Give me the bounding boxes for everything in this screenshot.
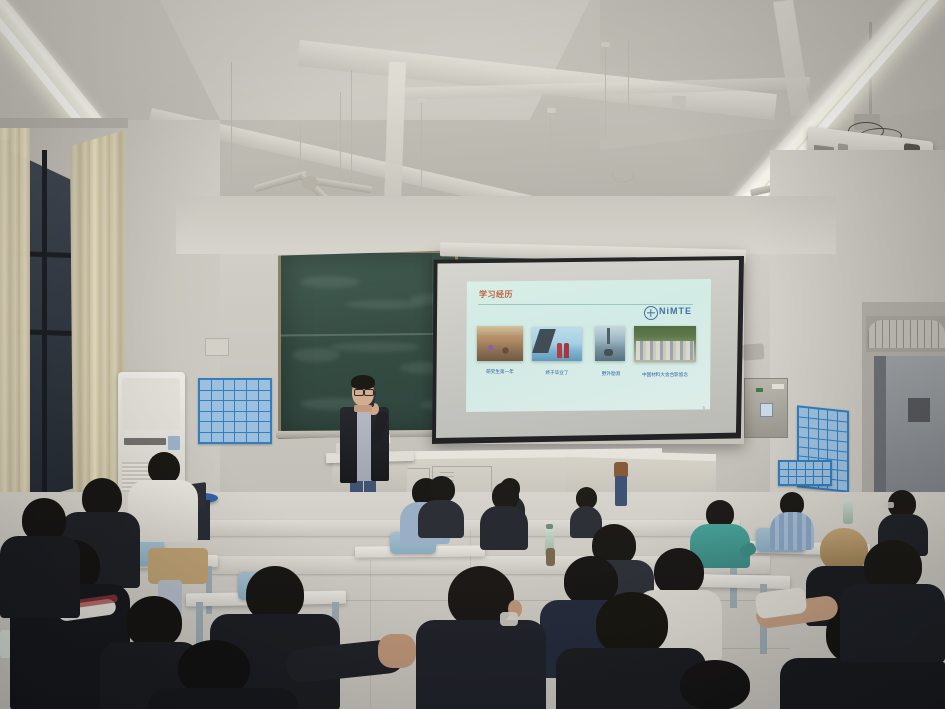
student-right-hand-on-chair [756, 590, 846, 640]
ac-top-panel [122, 378, 180, 430]
student-front-center [416, 566, 546, 709]
water-bottle-cap [546, 524, 553, 529]
student-arm-resting [286, 618, 416, 709]
light-hanger-rod-6 [628, 40, 629, 110]
student-body [416, 620, 546, 709]
student-head [680, 660, 750, 709]
light-hanger-rod-3 [421, 102, 422, 197]
slide-photo-2-person-a [557, 343, 562, 358]
pull-down-projection-screen: 学习经历 NiMTE 研究生第一年 终于毕业了 [432, 252, 744, 444]
ceiling-hook-2 [240, 88, 249, 93]
person-legs [615, 476, 627, 506]
student-hand [378, 634, 416, 668]
nimte-logo: NiMTE [644, 305, 704, 321]
ceiling-hook-4 [547, 108, 556, 113]
slide-photo-2-person-b [564, 343, 569, 358]
slide-caption-3: 野外勘测 [592, 371, 630, 377]
student-center-row-2 [418, 476, 464, 536]
student-bottom-right [640, 660, 800, 709]
student-head [596, 592, 668, 656]
student-face-mask [884, 502, 894, 508]
nimte-logo-text: NiMTE [659, 306, 692, 316]
presenter-glasses-icon [364, 389, 374, 396]
slide-title: 学习经历 [479, 289, 513, 300]
transom-grille-icon [868, 320, 945, 348]
person-in-corridor [612, 462, 630, 508]
poster-cell [200, 380, 211, 390]
ceiling-hook-5 [417, 98, 426, 103]
student-face-mask [500, 612, 518, 626]
presenter-jacket-left [340, 407, 357, 483]
water-bottle-3 [843, 500, 853, 524]
panel-indicator [756, 388, 763, 392]
panel-label [772, 384, 784, 389]
blue-grid-poster-left [198, 378, 272, 444]
slide-caption-2: 终于毕业了 [534, 370, 580, 376]
corridor-opening [908, 398, 930, 422]
classroom-photo: 学习经历 NiMTE 研究生第一年 终于毕业了 [0, 0, 945, 709]
student-body [780, 658, 945, 709]
fan-hub [302, 176, 318, 190]
presenter-glasses-icon [354, 389, 364, 396]
student-head [428, 476, 455, 503]
student-body [418, 500, 464, 538]
slide-photo-3-tower [607, 328, 610, 344]
student-legs [148, 548, 208, 584]
light-hanger-rod-5 [605, 46, 606, 139]
presenter-hair [351, 375, 375, 389]
student-body [480, 506, 528, 550]
slide-caption-4: 中国材料大会合影留念 [632, 372, 698, 378]
student-front-bottom-left [148, 640, 298, 709]
tube-bracket-center [672, 96, 686, 108]
student-body [840, 584, 945, 662]
student-hoodie-dark-2 [0, 498, 80, 618]
student-right-edge [840, 540, 945, 660]
ceiling-hook-3 [601, 42, 610, 47]
student-body [0, 536, 80, 618]
blue-grid-poster-center [778, 460, 832, 486]
student-head [654, 548, 704, 596]
wall-switch-plate [205, 338, 229, 356]
panel-warning-sticker [760, 403, 773, 417]
presenter-neck [354, 405, 372, 412]
window-mullion-vertical [42, 150, 47, 506]
projected-slide: 学习经历 NiMTE 研究生第一年 终于毕业了 [466, 279, 711, 412]
wall-speaker [741, 343, 764, 360]
curtain-rail [0, 118, 128, 128]
light-hanger-rod-1 [231, 60, 232, 212]
slide-caption-1: 研究生第一年 [474, 369, 526, 375]
student-center-row-3 [480, 482, 528, 548]
ac-display [168, 436, 180, 450]
ceiling-hook-1 [228, 56, 240, 62]
ac-brand-label [124, 438, 166, 445]
window-curtain-left [0, 120, 30, 520]
slide-page-number: 5 [702, 405, 705, 410]
light-hanger-rod-4 [550, 112, 551, 172]
slide-photo-1-sky [477, 326, 523, 335]
slide-photo-3-person [604, 349, 613, 356]
nimte-circular-logo-icon [644, 306, 658, 320]
student-body [148, 688, 298, 709]
slide-photo-4-people-row [636, 341, 694, 360]
